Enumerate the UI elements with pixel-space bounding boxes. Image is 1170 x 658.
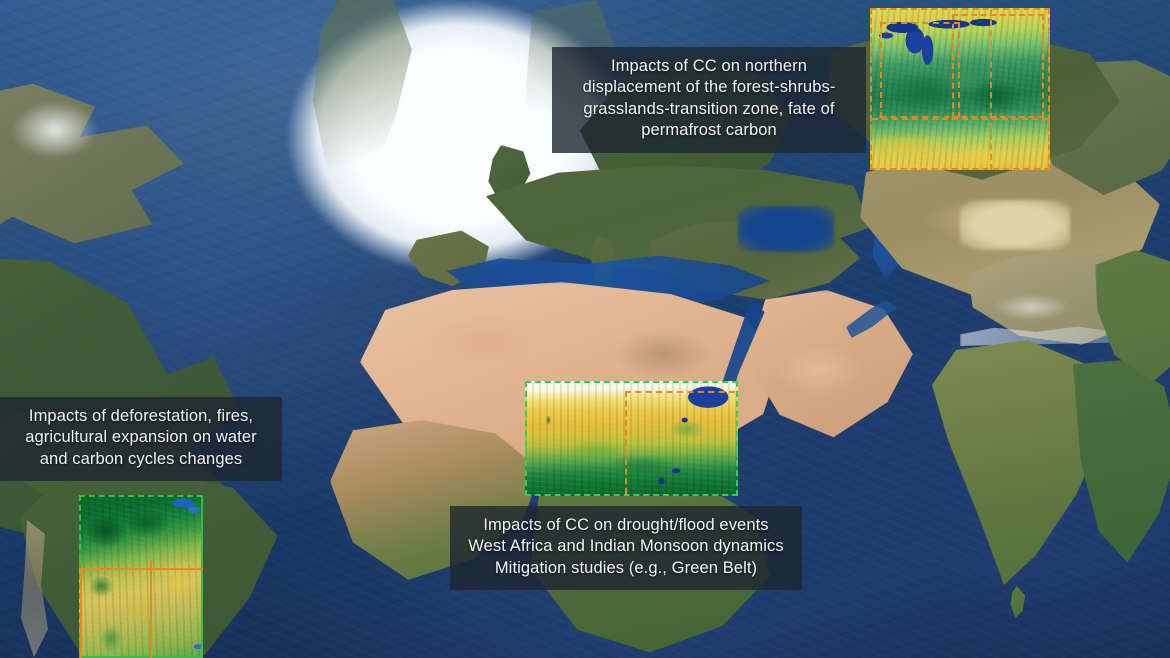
amazon-tile-divider-vertical [150,560,152,658]
water-black-sea [738,206,834,252]
map-canvas: Impacts of CC on northern displacement o… [0,0,1170,658]
sahel-inner-frame-top [625,391,735,393]
landmass-taklamakan [960,200,1070,250]
sahel-inner-frame-left [625,391,627,494]
amazon-frame-left-orange [80,568,82,658]
annotation-amazon-deforestation: Impacts of deforestation, fires, agricul… [0,397,282,481]
sahel-outer-frame [525,381,738,496]
annotation-arctic-boreal: Impacts of CC on northern displacement o… [552,47,866,153]
arctic-snow-patch [10,100,100,160]
amazon-tile-divider-horizontal [79,568,203,570]
annotation-africa-monsoon: Impacts of CC on drought/flood events We… [450,506,802,590]
amazon-outer-frame-top-left [79,495,203,658]
siberia-outer-frame [870,8,1050,170]
